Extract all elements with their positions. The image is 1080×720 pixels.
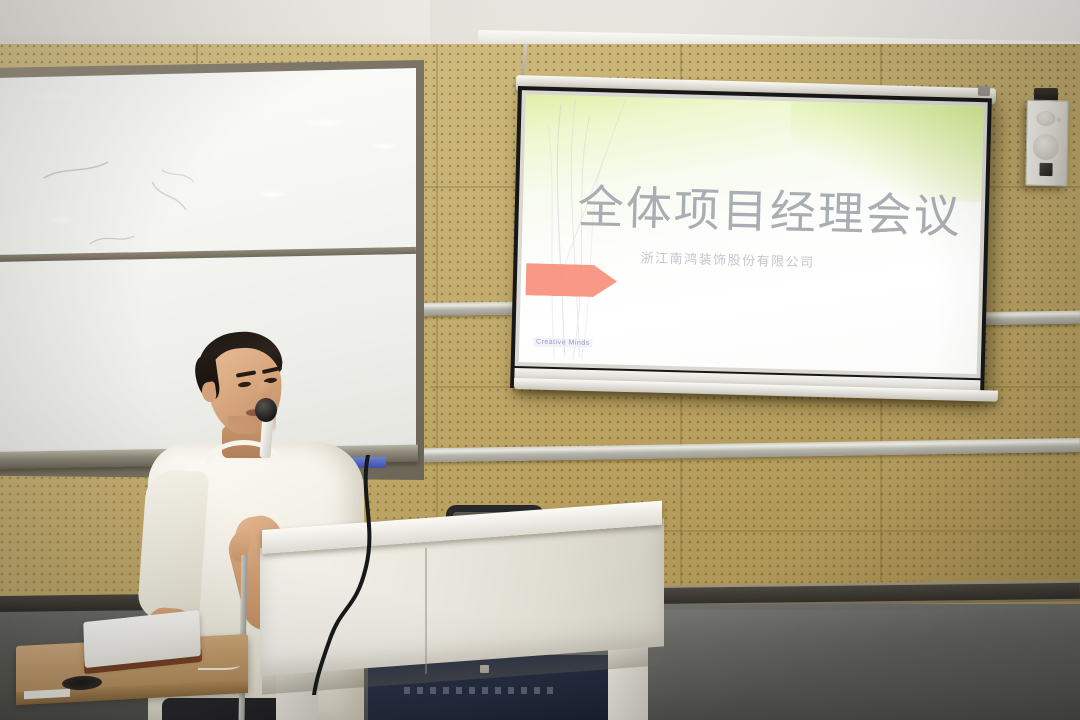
presenter-pants bbox=[162, 698, 290, 720]
slide-watermark: Creative Minds bbox=[533, 337, 593, 348]
speaker-badge bbox=[1039, 163, 1052, 176]
microphone-head-icon bbox=[255, 398, 277, 422]
laptop-power-cord bbox=[198, 658, 240, 670]
presenter-ear bbox=[201, 381, 218, 403]
conference-room-scene: 全体项目经理会议 浙江南鸿装饰股份有限公司 Creative Minds bbox=[0, 0, 1080, 720]
speaker-port bbox=[1056, 117, 1061, 122]
slide-accent-arrow bbox=[525, 263, 617, 298]
projection-screen[interactable]: 全体项目经理会议 浙江南鸿装饰股份有限公司 Creative Minds bbox=[510, 86, 992, 400]
wall-speaker bbox=[1025, 100, 1068, 187]
screen-roller-cap bbox=[978, 86, 990, 96]
presenter-sleeve-left bbox=[137, 468, 209, 622]
speaker-tweeter-icon bbox=[1036, 111, 1055, 126]
slide-subtitle: 浙江南鸿装饰股份有限公司 bbox=[640, 247, 961, 274]
slide-canvas[interactable]: 全体项目经理会议 浙江南鸿装饰股份有限公司 Creative Minds bbox=[519, 94, 984, 374]
podium-button-row[interactable] bbox=[404, 687, 554, 694]
podium-seam bbox=[425, 548, 427, 674]
slide-title: 全体项目经理会议 bbox=[577, 171, 963, 247]
speaker-woofer-icon bbox=[1033, 134, 1059, 160]
